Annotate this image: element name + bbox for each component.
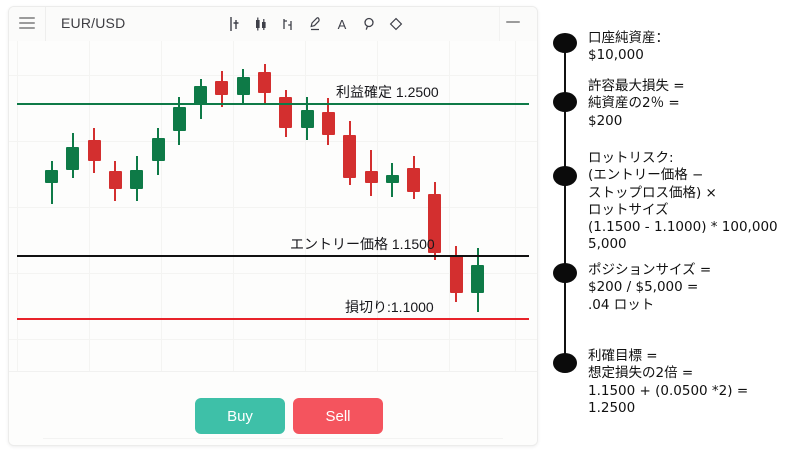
timeline-dot — [553, 353, 577, 373]
candlestick — [471, 248, 484, 312]
minimize-icon[interactable] — [506, 21, 520, 23]
timeline-spine — [564, 43, 566, 361]
candle-body — [279, 97, 292, 128]
titlebar-divider — [45, 7, 46, 41]
candlestick — [386, 163, 399, 198]
candle-body — [215, 81, 228, 95]
candlestick — [88, 128, 101, 173]
trading-chart-card: EUR/USD A — [8, 6, 538, 446]
titlebar-divider-right — [499, 7, 500, 41]
candle-body — [386, 175, 399, 184]
timeline-dot — [553, 263, 577, 283]
timeline-text-line: 想定損失の2倍 = — [588, 365, 800, 382]
hamburger-icon[interactable] — [19, 17, 35, 31]
chart-titlebar: EUR/USD A — [9, 7, 537, 42]
timeline-text-line: $200 / $5,000 = — [588, 279, 800, 296]
timeline-item-max-allowed-loss: 許容最大損失 =純資産の2％ =$200 — [588, 78, 800, 130]
candle-body — [237, 77, 250, 94]
order-button-bar: Buy Sell — [9, 371, 537, 446]
bar-chart-tool[interactable] — [278, 13, 298, 35]
cursor-crosshair-tool[interactable] — [224, 13, 244, 35]
candle-body — [109, 171, 122, 188]
candlestick — [109, 161, 122, 201]
candlestick — [237, 69, 250, 104]
candlestick — [215, 71, 228, 107]
timeline-text-line: (エントリー価格 − — [588, 167, 800, 184]
timeline-text-line: ポジションサイズ = — [588, 262, 800, 279]
stop-loss-line — [17, 318, 529, 320]
timeline-dot — [553, 33, 577, 53]
timeline-text-line: 許容最大損失 = — [588, 78, 800, 95]
timeline-text-line: $200 — [588, 113, 800, 130]
timeline-item-take-profit-target: 利確目標 =想定損失の2倍 =1.1500 + (0.0500 *2) =1.2… — [588, 348, 800, 417]
candlestick — [322, 98, 335, 145]
buy-button[interactable]: Buy — [195, 398, 285, 434]
timeline-text-line: ロットリスク: — [588, 150, 800, 167]
candlestick — [130, 156, 143, 201]
timeline-text-line: 利確目標 = — [588, 348, 800, 365]
entry-price-line — [17, 255, 529, 257]
stop-loss-label: 損切り:1.1000 — [345, 297, 434, 317]
timeline-item-lot-risk: ロットリスク:(エントリー価格 −ストップロス価格) ×ロットサイズ(1.150… — [588, 150, 800, 254]
chart-tool-group: A — [224, 13, 384, 37]
timeline-text-line: 5,000 — [588, 236, 800, 253]
candle-body — [66, 147, 79, 170]
candle-body — [88, 140, 101, 161]
timeline-text-line: .04 ロット — [588, 297, 800, 314]
svg-text:A: A — [338, 17, 347, 32]
timeline-text-line: $10,000 — [588, 47, 800, 64]
candle-body — [365, 171, 378, 183]
screen: EUR/USD A — [0, 0, 800, 450]
candlestick-chart-tool[interactable] — [251, 13, 271, 35]
draw-pencil-tool[interactable] — [305, 13, 325, 35]
timeline-item-account-equity: 口座純資産：$10,000 — [588, 30, 800, 65]
candlestick — [258, 64, 271, 106]
candlestick — [66, 133, 79, 178]
timeline-text-line: 1.2500 — [588, 400, 800, 417]
candlestick — [407, 156, 420, 199]
candle-body — [322, 112, 335, 135]
candle-body — [130, 170, 143, 189]
zoom-search-tool[interactable] — [359, 13, 379, 35]
take-profit-line — [17, 103, 529, 105]
candle-body — [152, 138, 165, 161]
timeline-dot — [553, 166, 577, 186]
timeline-text-line: ストップロス価格) × — [588, 185, 800, 202]
shape-diamond-tool[interactable] — [386, 13, 406, 35]
take-profit-label: 利益確定 1.2500 — [336, 82, 439, 102]
candle-body — [343, 135, 356, 178]
candlestick — [194, 79, 207, 119]
candle-body — [45, 170, 58, 184]
candle-body — [258, 72, 271, 93]
timeline-text-line: ロットサイズ — [588, 202, 800, 219]
text-tool[interactable]: A — [332, 13, 352, 35]
candlestick — [152, 128, 165, 175]
timeline-text-line: (1.1500 - 1.1000) * 100,000 — [588, 219, 800, 236]
candle-body — [407, 168, 420, 192]
entry-price-label: エントリー価格 1.1500 — [290, 234, 435, 254]
candlestick — [343, 121, 356, 185]
timeline-text-line: 1.1500 + (0.0500 *2) = — [588, 383, 800, 400]
calculation-timeline: 口座純資産：$10,000許容最大損失 =純資産の2％ =$200ロットリスク:… — [548, 0, 800, 450]
candle-body — [173, 107, 186, 131]
timeline-item-position-size: ポジションサイズ =$200 / $5,000 =.04 ロット — [588, 262, 800, 314]
sell-button[interactable]: Sell — [293, 398, 383, 434]
candlestick-chart[interactable]: 利益確定 1.2500 エントリー価格 1.1500 損切り:1.1000 — [9, 41, 537, 371]
candle-body — [471, 265, 484, 293]
candlestick — [45, 161, 58, 204]
bottom-divider — [43, 438, 503, 439]
currency-pair-title: EUR/USD — [61, 15, 125, 31]
candlestick — [365, 150, 378, 195]
candle-body — [450, 255, 463, 293]
timeline-text-line: 純資産の2％ = — [588, 95, 800, 112]
candlestick — [279, 90, 292, 137]
timeline-dot — [553, 92, 577, 112]
candle-body — [301, 110, 314, 127]
timeline-text-line: 口座純資産： — [588, 30, 800, 47]
